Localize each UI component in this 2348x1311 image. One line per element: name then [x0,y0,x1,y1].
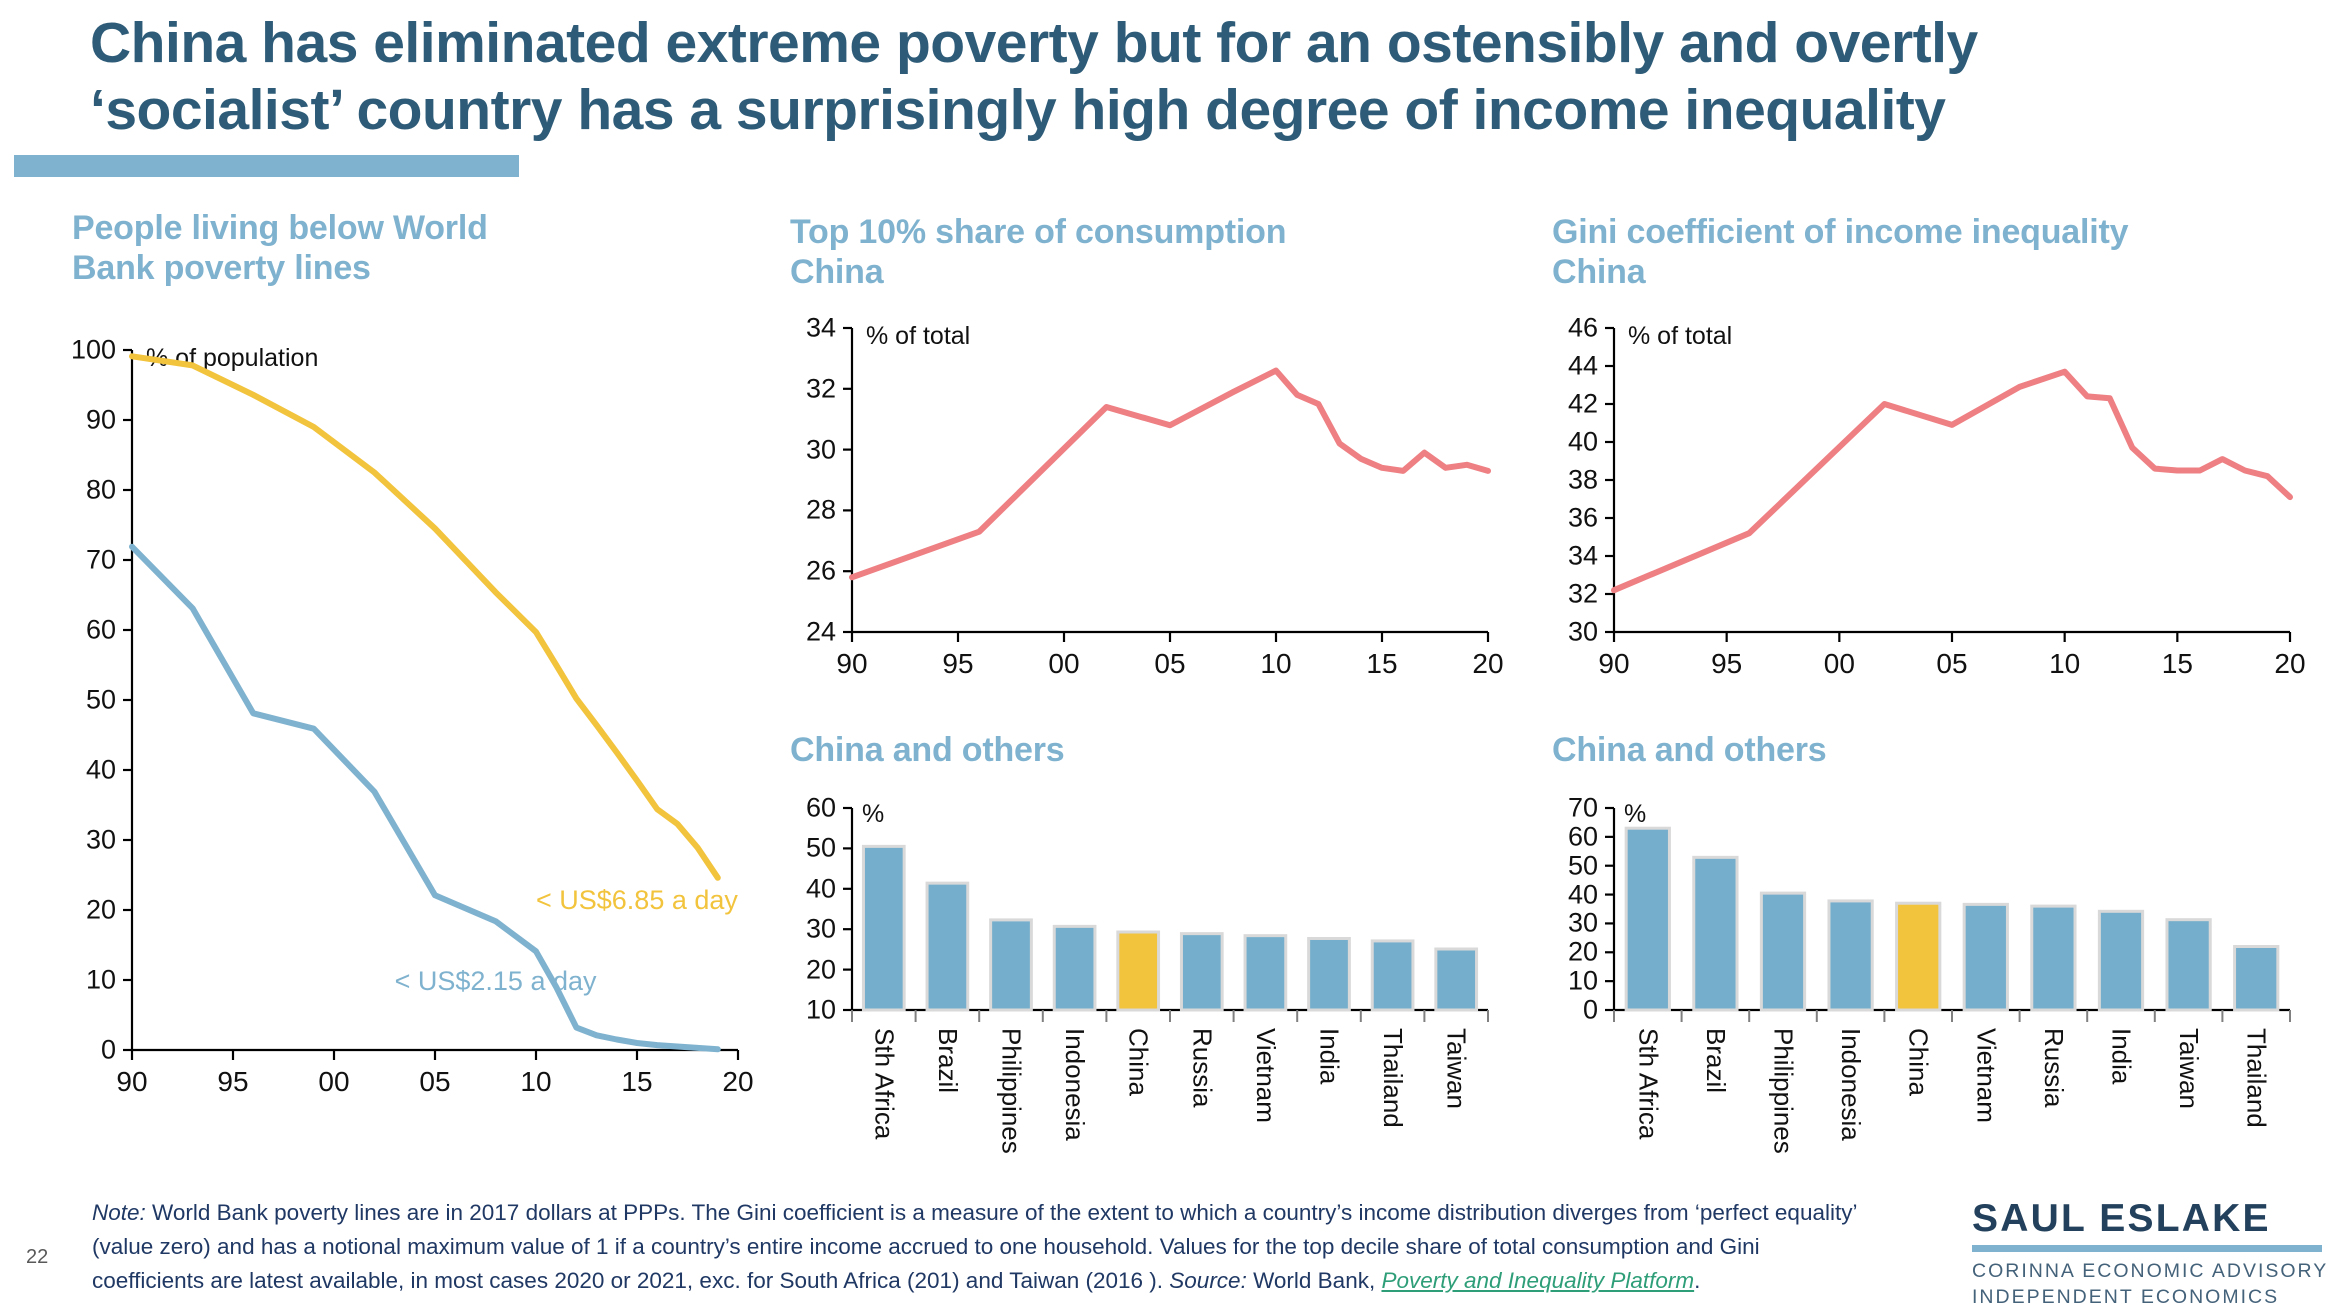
footnote-tail: . [1694,1268,1700,1293]
page-number: 22 [26,1246,48,1269]
bar [1181,934,1222,1010]
poverty-and-inequality-platform-link[interactable]: Poverty and Inequality Platform [1381,1268,1694,1293]
bar [1829,901,1872,1010]
footnote-note-label: Note: [92,1200,146,1225]
chart-gini-bars-svg [1548,780,2308,1200]
chart-gini-coefficient: 30323436384042444690950005101520% of tot… [1548,300,2308,690]
saul-eslake-logo: SAUL ESLAKE CORINNA ECONOMIC ADVISORY IN… [1972,1199,2322,1311]
panel-title-top10: Top 10% share of consumption China [790,212,1490,292]
bar [1054,926,1095,1010]
panel-title-top10-bars: China and others [790,730,1065,770]
panel-title-gini-line2: China [1552,253,1645,291]
panel-title-gini: Gini coefficient of income inequality Ch… [1552,212,2312,292]
panel-title-poverty-line2: Bank poverty lines [72,249,371,287]
logo-name: SAUL ESLAKE [1972,1199,2322,1238]
bar [2099,911,2142,1010]
slide-canvas: China has eliminated extreme poverty but… [0,0,2348,1308]
bar [2167,920,2210,1010]
bar [1761,893,1804,1010]
bar [2032,906,2075,1010]
bar [1897,903,1940,1010]
chart-poverty-svg [60,310,760,1160]
footnote-source-label: Source: [1169,1268,1247,1293]
title-underline-rule [14,155,519,177]
bar [927,883,968,1010]
bar [1626,828,1669,1010]
panel-title-gini-bars: China and others [1552,730,1827,770]
logo-divider-bar [1972,1245,2322,1252]
logo-subtitle-2: INDEPENDENT ECONOMICS [1972,1284,2322,1310]
chart-gini-svg [1548,300,2308,690]
chart-top10-bars-svg [786,780,1506,1200]
footnote-source-body: World Bank, [1247,1268,1382,1293]
bar [1118,932,1159,1010]
page-title: China has eliminated extreme poverty but… [90,10,2240,143]
chart-gini-country-bars: 010203040506070%Sth AfricaBrazilPhilippi… [1548,780,2308,1200]
bar [1436,949,1477,1010]
logo-subtitle-1: CORINNA ECONOMIC ADVISORY [1972,1258,2322,1284]
panel-title-poverty-line1: People living below World [72,209,488,247]
bar [1694,857,1737,1010]
bar [863,846,904,1010]
bar [991,920,1032,1010]
chart-top10-country-bars: 102030405060%Sth AfricaBrazilPhilippines… [786,780,1506,1200]
panel-title-top10-line1: Top 10% share of consumption [790,213,1286,251]
chart-poverty-lines: 010203040506070809010090950005101520% of… [60,310,760,1160]
panel-title-poverty: People living below World Bank poverty l… [72,208,692,288]
bar [1309,938,1350,1010]
bar [2235,947,2278,1010]
chart-top10-share: 24262830323490950005101520% of total [786,300,1506,690]
panel-title-gini-line1: Gini coefficient of income inequality [1552,213,2128,251]
bar [1245,936,1286,1010]
footnote: Note: World Bank poverty lines are in 20… [92,1196,1867,1299]
chart-top10-svg [786,300,1506,690]
bar [1372,941,1413,1010]
panel-title-top10-line2: China [790,253,883,291]
bar [1964,904,2007,1010]
